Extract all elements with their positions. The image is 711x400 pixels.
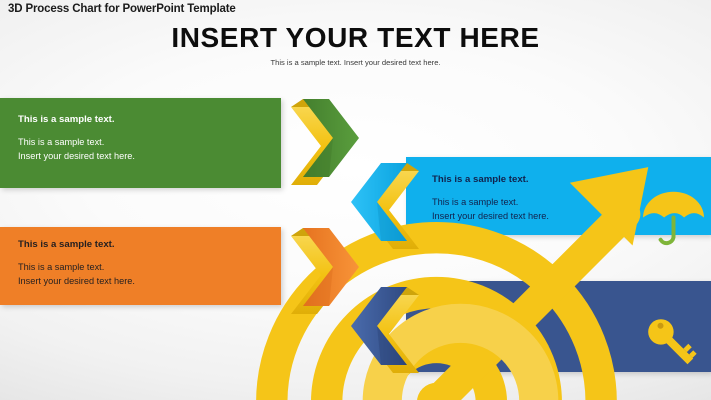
chevron-arrow-navy bbox=[345, 281, 423, 379]
panel-body: This is a sample text. Insert your desir… bbox=[18, 261, 135, 288]
page-subtitle: This is a sample text. Insert your desir… bbox=[0, 58, 711, 67]
panel-body-line1: This is a sample text. bbox=[18, 136, 135, 150]
panel-body-line1: This is a sample text. bbox=[18, 261, 135, 275]
panel-body-line2: Insert your desired text here. bbox=[18, 150, 135, 164]
panel-title: This is a sample text. bbox=[18, 239, 115, 250]
panel-body: This is a sample text. Insert your desir… bbox=[18, 136, 135, 163]
slide-title: 3D Process Chart for PowerPoint Template bbox=[8, 3, 236, 15]
unlocked-padlock-icon bbox=[210, 245, 711, 400]
umbrella-icon bbox=[636, 180, 711, 255]
panel-body-line2: Insert your desired text here. bbox=[18, 275, 135, 289]
key-icon bbox=[637, 308, 711, 382]
panel-title: This is a sample text. bbox=[18, 114, 115, 125]
page-title: INSERT YOUR TEXT HERE bbox=[0, 22, 711, 54]
